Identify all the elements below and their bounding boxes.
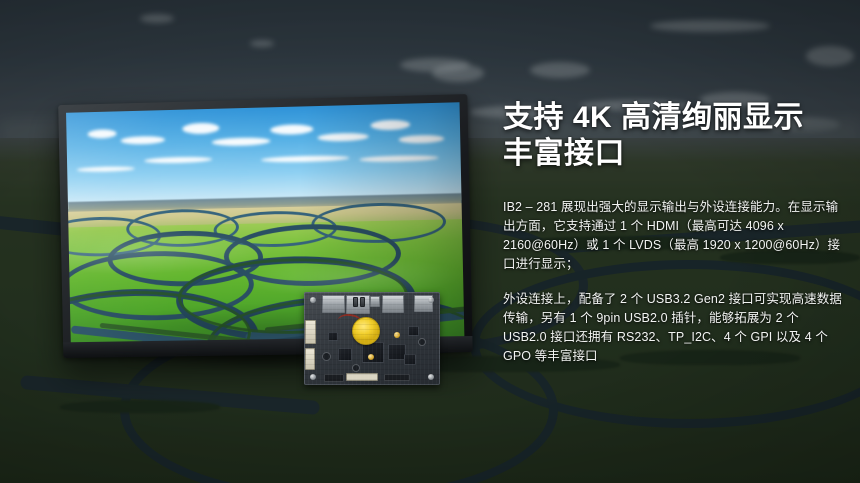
mount-screw-bottom-right xyxy=(428,374,434,380)
display-port xyxy=(414,295,433,312)
capacitor-2 xyxy=(418,338,426,346)
side-connector xyxy=(305,348,315,370)
standoff-screw-2 xyxy=(368,354,374,360)
bottom-header-1 xyxy=(346,373,378,381)
screen-sky xyxy=(66,102,461,209)
capacitor-3 xyxy=(352,364,360,372)
memory-chip xyxy=(388,344,406,360)
small-ic-3 xyxy=(404,354,416,365)
hdmi-port xyxy=(382,295,404,313)
page-title: 支持 4K 高清绚丽显示 丰富接口 xyxy=(503,100,843,172)
mount-screw-top-right xyxy=(428,297,434,303)
board-pcb xyxy=(304,292,440,385)
small-ic-1 xyxy=(408,326,419,336)
lvds-connector xyxy=(305,320,316,344)
usb-stack-port xyxy=(346,295,370,314)
controller-chip xyxy=(338,348,352,361)
audio-jack xyxy=(370,296,380,307)
slide-root: 支持 4K 高清绚丽显示 丰富接口 IB2 – 281 展现出强大的显示输出与外… xyxy=(0,0,860,483)
front-panel-header xyxy=(384,374,410,381)
gpio-pin-header xyxy=(324,374,344,382)
soc-chip xyxy=(362,342,384,363)
motherboard xyxy=(304,292,440,388)
rj45-port xyxy=(322,295,345,313)
page-title-line-1: 支持 4K 高清绚丽显示 xyxy=(503,101,804,134)
usb-port-divider xyxy=(353,297,358,307)
small-ic-2 xyxy=(328,332,338,341)
standoff-screw-1 xyxy=(394,332,400,338)
description-paragraph-2: 外设连接上，配备了 2 个 USB3.2 Gen2 接口可实现高速数据传输，另有… xyxy=(503,290,843,366)
mount-screw-bottom-left xyxy=(310,374,316,380)
coin-cell-battery xyxy=(352,317,380,345)
usb-port-divider-2 xyxy=(360,297,365,307)
battery-wire xyxy=(336,312,364,333)
page-title-line-2: 丰富接口 xyxy=(503,136,843,172)
copy-block: 支持 4K 高清绚丽显示 丰富接口 IB2 – 281 展现出强大的显示输出与外… xyxy=(503,100,843,366)
description-paragraph-1: IB2 – 281 展现出强大的显示输出与外设连接能力。在显示输出方面，它支持通… xyxy=(503,198,843,274)
capacitor-1 xyxy=(322,352,331,361)
mount-screw-top-left xyxy=(310,297,316,303)
